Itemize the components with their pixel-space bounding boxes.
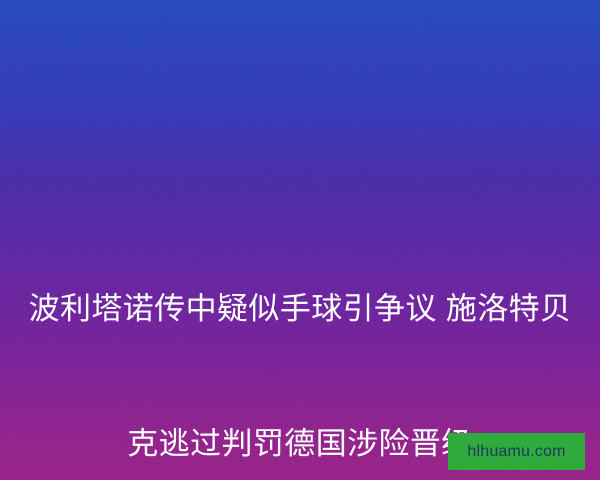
banner-image: 波利塔诺传中疑似手球引争议 施洛特贝 克逃过判罚德国涉险晋级 hlhuamu.c… — [0, 0, 600, 480]
watermark-label: hlhuamu.com — [467, 444, 565, 460]
headline-line-1: 波利塔诺传中疑似手球引争议 施洛特贝 — [14, 286, 586, 331]
watermark-badge: hlhuamu.com — [448, 433, 585, 470]
